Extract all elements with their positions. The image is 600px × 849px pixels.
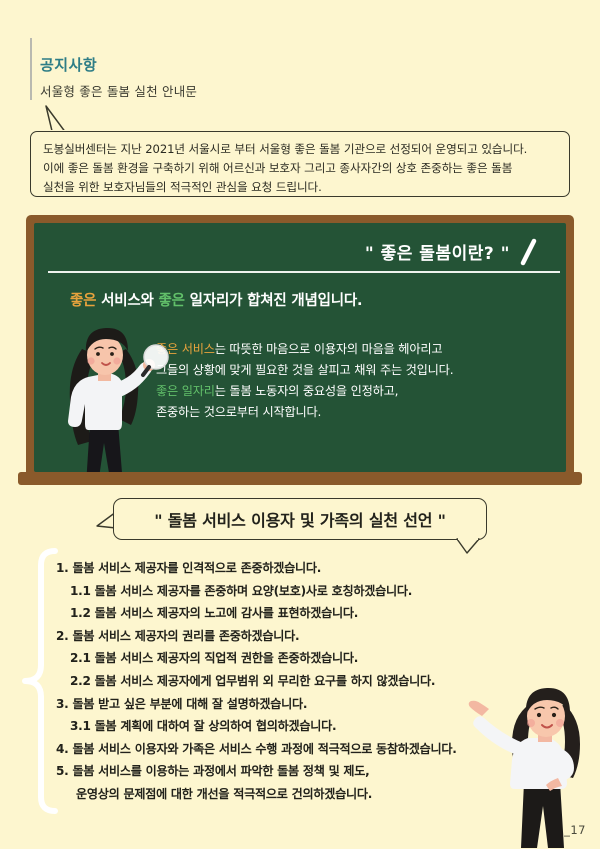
board-body-line-3: 좋은 일자리는 돌봄 노동자의 중요성을 인정하고, — [156, 381, 453, 402]
list-item: 2. 돌봄 서비스 제공자의 권리를 존중하겠습니다. — [50, 630, 520, 642]
intro-line: 이에 좋은 돌봄 환경을 구축하기 위해 어르신과 보호자 그리고 종사자간의 … — [43, 159, 557, 178]
board-line-rest-4: 존중하는 것으로부터 시작합니다. — [156, 405, 321, 419]
blackboard-title-underline — [48, 271, 560, 273]
page-title: 공지사항 — [40, 55, 197, 76]
list-item: 1.2 돌봄 서비스 제공자의 노고에 감사를 표현하겠습니다. — [50, 607, 520, 619]
blackboard-lead-line: 좋은 서비스와 좋은 일자리가 합쳐진 개념입니다. — [70, 289, 362, 310]
chalk-stroke-icon — [518, 237, 540, 271]
board-line-rest-2: 그들의 상황에 맞게 필요한 것을 살피고 채워 주는 것입니다. — [156, 363, 453, 377]
list-item: 3.1 돌봄 계획에 대하여 잘 상의하여 협의하겠습니다. — [50, 720, 520, 732]
intro-speech-bubble: 도봉실버센터는 지난 2021년 서울시로 부터 서울형 좋은 돌봄 기관으로 … — [30, 131, 570, 197]
board-line-rest-1: 는 따뜻한 마음으로 이용자의 마음을 헤아리고 — [215, 342, 443, 356]
page-number: _17 — [564, 823, 586, 837]
list-item: 2.2 돌봄 서비스 제공자에게 업무범위 외 무리한 요구를 하지 않겠습니다… — [50, 675, 520, 687]
declaration-speech-bubble: " 돌봄 서비스 이용자 및 가족의 실천 선언 " — [113, 498, 487, 540]
board-line-rest-3: 는 돌봄 노동자의 중요성을 인정하고, — [215, 384, 399, 398]
lead-text-1: 서비스와 — [96, 293, 158, 309]
list-item: 1. 돌봄 서비스 제공자를 인격적으로 존중하겠습니다. — [50, 562, 520, 574]
intro-bubble-tail-icon — [42, 104, 68, 134]
list-item: 3. 돌봄 받고 싶은 부분에 대해 잘 설명하겠습니다. — [50, 698, 520, 710]
declaration-bubble-tail-icon — [455, 538, 481, 554]
page-subtitle: 서울형 좋은 돌봄 실천 안내문 — [40, 81, 197, 100]
lead-text-2: 일자리가 합쳐진 개념입니다. — [185, 293, 363, 309]
list-item: 4. 돌봄 서비스 이용자와 가족은 서비스 수행 과정에 적극적으로 동참하겠… — [50, 743, 520, 755]
notice-page: 공지사항 서울형 좋은 돌봄 실천 안내문 도봉실버센터는 지난 2021년 서… — [0, 0, 600, 849]
declaration-title: " 돌봄 서비스 이용자 및 가족의 실천 선언 " — [154, 507, 446, 531]
header-divider-rule — [30, 38, 32, 100]
woman-at-blackboard-illustration — [52, 319, 172, 472]
blackboard-title: " 좋은 돌봄이란? " — [365, 239, 510, 264]
intro-line: 도봉실버센터는 지난 2021년 서울시로 부터 서울형 좋은 돌봄 기관으로 … — [43, 140, 557, 159]
intro-line: 실천을 위한 보호자님들의 적극적인 관심을 요청 드립니다. — [43, 178, 557, 197]
declaration-list: 1. 돌봄 서비스 제공자를 인격적으로 존중하겠습니다. 1.1 돌봄 서비스… — [50, 562, 520, 811]
list-item: 5. 돌봄 서비스를 이용하는 과정에서 파악한 돌봄 정책 및 제도, — [50, 765, 520, 777]
board-body-line-1: 좋은 서비스는 따뜻한 마음으로 이용자의 마음을 헤아리고 — [156, 339, 453, 360]
lead-highlight-good-2: 좋은 — [159, 293, 185, 309]
board-body-line-4: 존중하는 것으로부터 시작합니다. — [156, 402, 453, 423]
blackboard-surface: " 좋은 돌봄이란? " 좋은 서비스와 좋은 일자리가 합쳐진 개념입니다. … — [34, 223, 566, 472]
lead-highlight-good-1: 좋은 — [70, 293, 96, 309]
header-block: 공지사항 서울형 좋은 돌봄 실천 안내문 — [40, 55, 197, 100]
list-item: 1.1 돌봄 서비스 제공자를 존중하며 요양(보호)사로 호칭하겠습니다. — [50, 585, 520, 597]
board-body-line-2: 그들의 상황에 맞게 필요한 것을 살피고 채워 주는 것입니다. — [156, 360, 453, 381]
list-item: 운영상의 문제점에 대한 개선을 적극적으로 건의하겠습니다. — [50, 788, 520, 800]
list-item: 2.1 돌봄 서비스 제공자의 직업적 권한을 존중하겠습니다. — [50, 652, 520, 664]
blackboard-body-text: 좋은 서비스는 따뜻한 마음으로 이용자의 마음을 헤아리고 그들의 상황에 맞… — [156, 339, 453, 423]
blackboard-frame: " 좋은 돌봄이란? " 좋은 서비스와 좋은 일자리가 합쳐진 개념입니다. … — [26, 215, 574, 480]
